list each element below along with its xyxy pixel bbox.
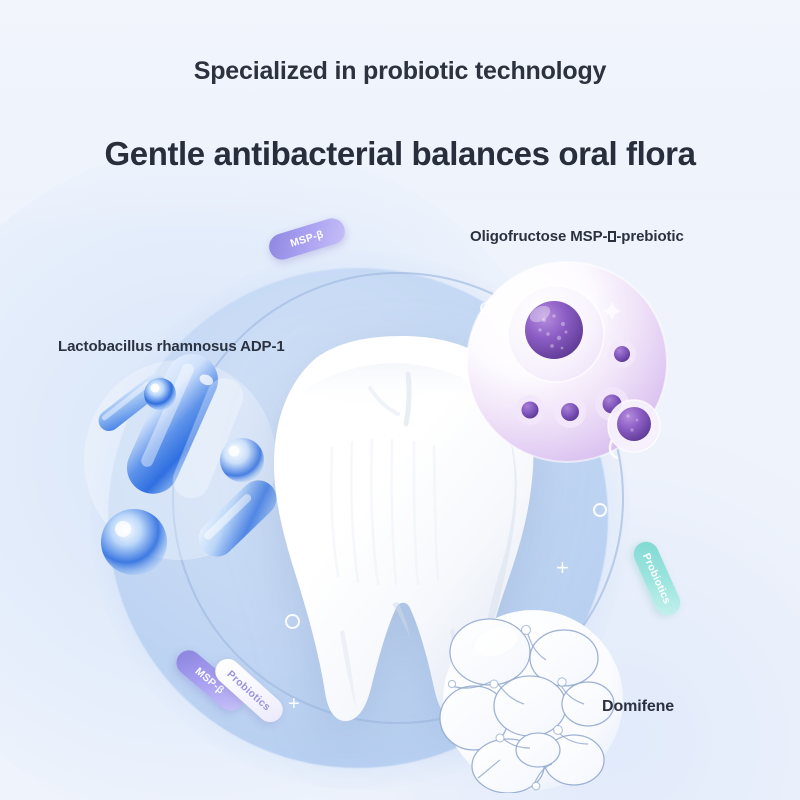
decor-plus-icon: +	[288, 694, 300, 714]
page-title: Gentle antibacterial balances oral flora	[0, 134, 800, 174]
heading-block: Specialized in probiotic technology Gent…	[0, 56, 800, 174]
foam-bubbles-icon	[438, 608, 628, 793]
cell-sphere-icon	[462, 258, 672, 470]
decor-ring-icon	[480, 302, 492, 314]
label-oligofructose: Oligofructose MSP--prebiotic	[470, 228, 684, 245]
label-oligofructose-prefix: Oligofructose MSP-	[470, 228, 607, 245]
label-domifene: Domifene	[602, 698, 674, 716]
decor-ring-icon	[285, 614, 300, 629]
badge-probiotics-green: Probiotics	[630, 538, 685, 619]
subtitle: Specialized in probiotic technology	[0, 56, 800, 86]
decor-ring-icon	[593, 503, 607, 517]
decor-plus-icon: +	[556, 557, 569, 579]
promo-banner: Specialized in probiotic technology Gent…	[0, 0, 800, 800]
missing-glyph-icon	[608, 231, 616, 242]
label-lactobacillus: Lactobacillus rhamnosus ADP-1	[58, 338, 285, 355]
label-oligofructose-suffix: -prebiotic	[616, 228, 683, 245]
